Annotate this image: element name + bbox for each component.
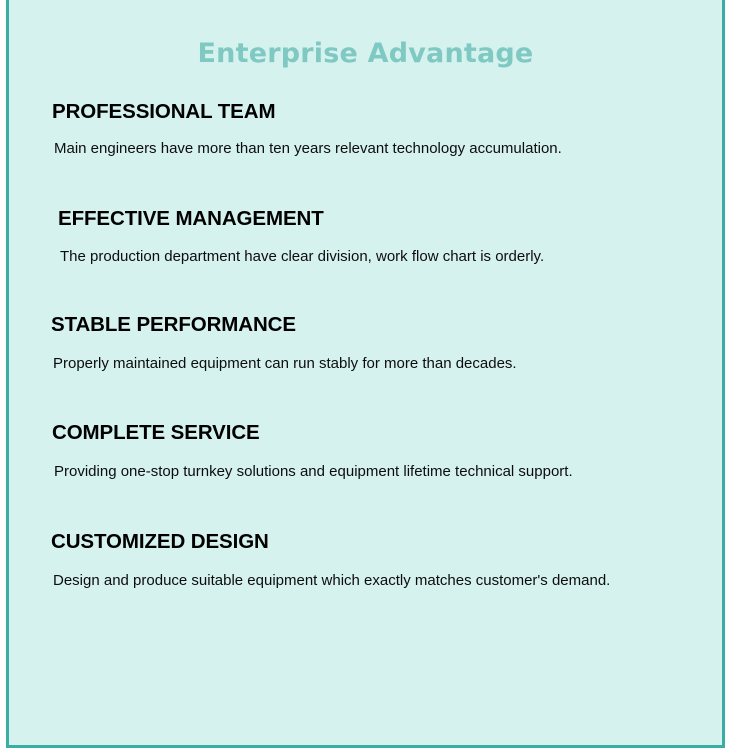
section-body: Main engineers have more than ten years … bbox=[54, 137, 669, 160]
advantage-section-complete-service: COMPLETE SERVICE Providing one-stop turn… bbox=[9, 375, 722, 483]
advantage-section-effective-management: EFFECTIVE MANAGEMENT The production depa… bbox=[9, 161, 722, 269]
advantage-section-professional-team: PROFESSIONAL TEAM Main engineers have mo… bbox=[9, 69, 722, 161]
section-body: Providing one-stop turnkey solutions and… bbox=[54, 460, 649, 483]
section-heading: STABLE PERFORMANCE bbox=[51, 313, 722, 337]
advantage-section-stable-performance: STABLE PERFORMANCE Properly maintained e… bbox=[9, 268, 722, 375]
section-body: Properly maintained equipment can run st… bbox=[53, 352, 668, 375]
section-heading: CUSTOMIZED DESIGN bbox=[51, 530, 722, 554]
section-body: Design and produce suitable equipment wh… bbox=[53, 569, 649, 592]
advantage-section-list: PROFESSIONAL TEAM Main engineers have mo… bbox=[9, 69, 722, 592]
section-body: The production department have clear div… bbox=[60, 245, 670, 268]
section-heading: EFFECTIVE MANAGEMENT bbox=[58, 207, 722, 231]
advantage-section-customized-design: CUSTOMIZED DESIGN Design and produce sui… bbox=[9, 483, 722, 592]
page-title: Enterprise Advantage bbox=[9, 0, 722, 69]
enterprise-advantage-panel: Enterprise Advantage PROFESSIONAL TEAM M… bbox=[6, 0, 725, 748]
section-heading: COMPLETE SERVICE bbox=[52, 421, 722, 445]
section-heading: PROFESSIONAL TEAM bbox=[52, 100, 722, 124]
